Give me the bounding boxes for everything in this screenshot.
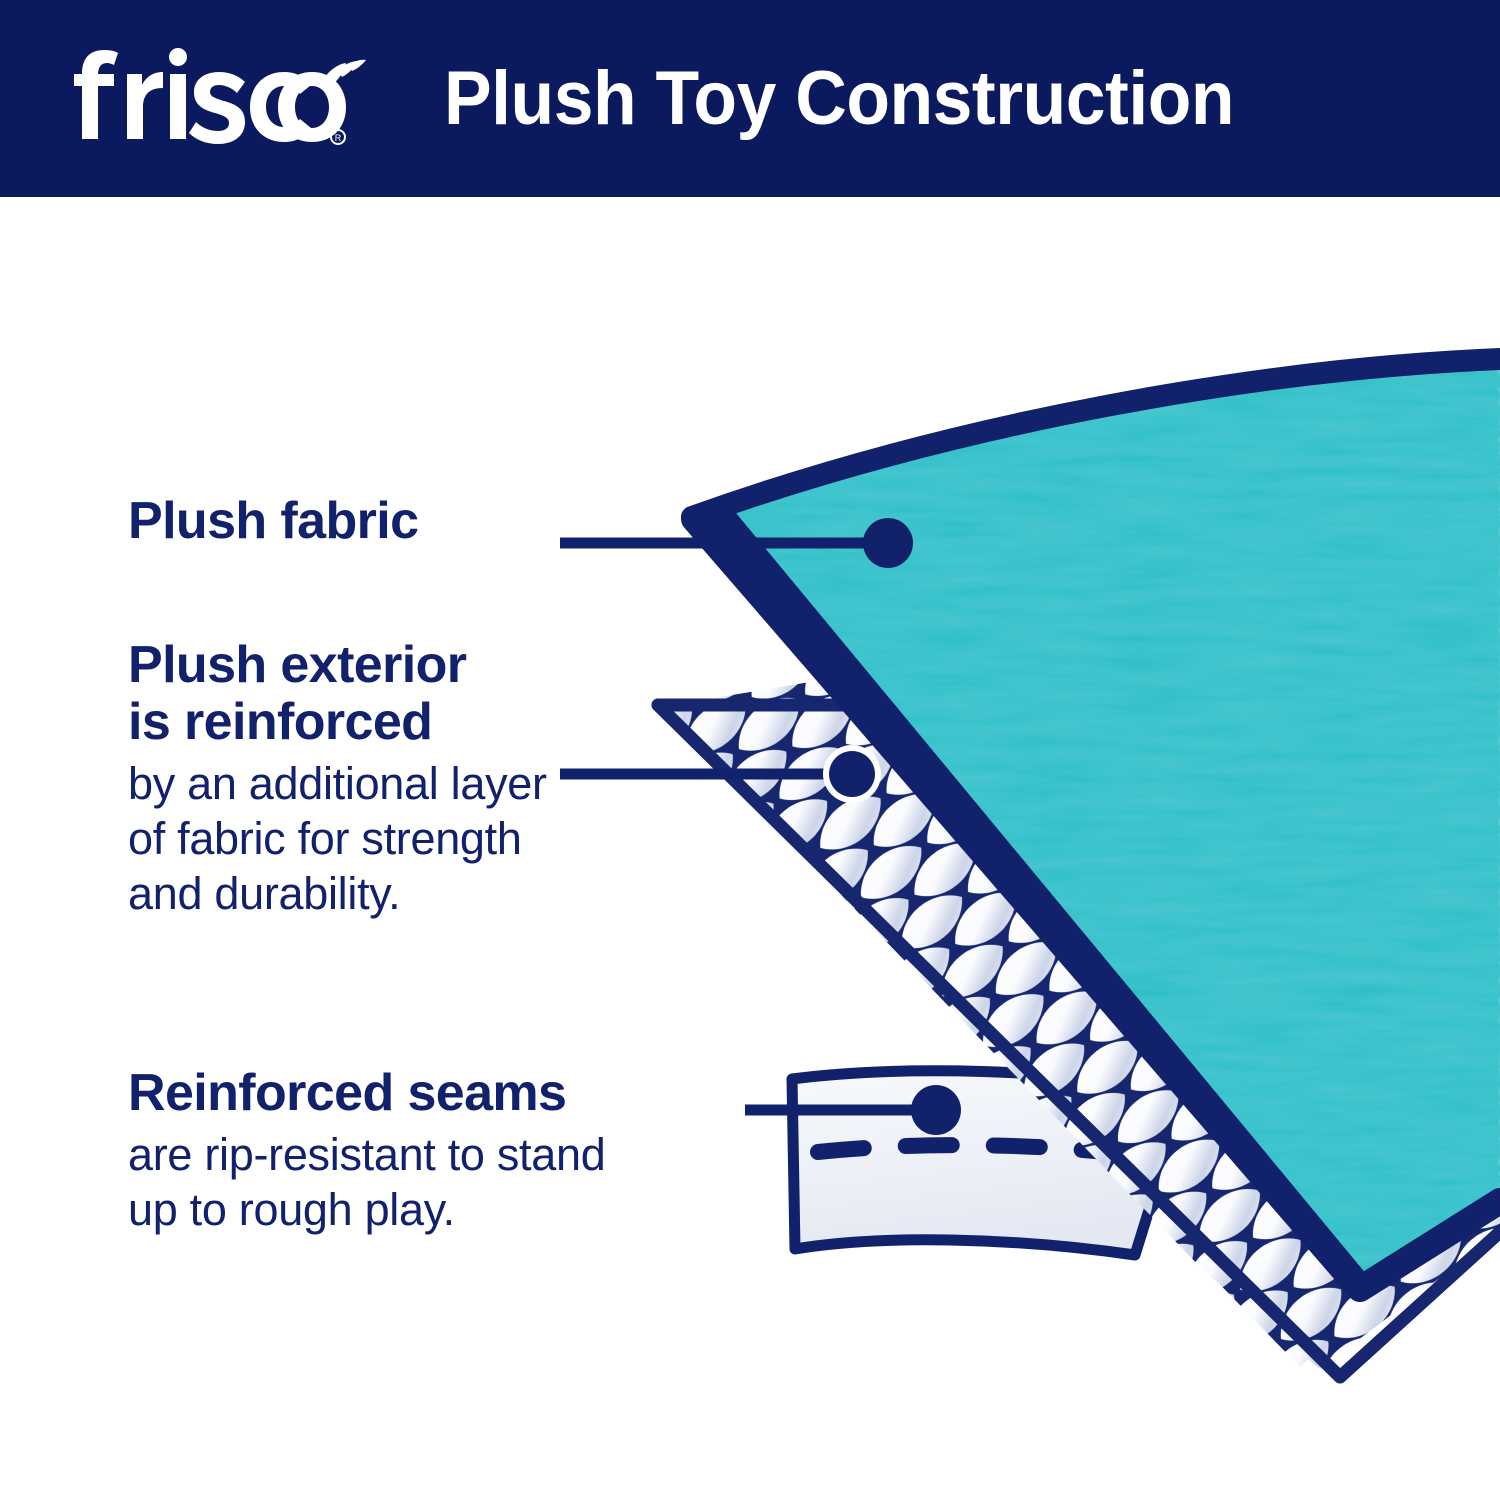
- callout-headline: Plush exterior is reinforced: [128, 637, 547, 751]
- header-bar: R Plush Toy Construction: [0, 0, 1500, 197]
- callout-body: are rip-resistant to stand up to rough p…: [128, 1128, 605, 1238]
- svg-text:R: R: [335, 133, 342, 143]
- registered-trademark-icon: R: [331, 130, 345, 144]
- callout-headline: Reinforced seams: [128, 1065, 605, 1122]
- callout-headline: Plush fabric: [128, 493, 418, 550]
- callout-reinforced-seams: Reinforced seams are rip-resistant to st…: [128, 1065, 605, 1238]
- callout-plush-exterior: Plush exterior is reinforced by an addit…: [128, 637, 547, 922]
- page-title: Plush Toy Construction: [444, 55, 1234, 142]
- frisco-wordmark-svg: R: [72, 44, 372, 154]
- frisco-logo: R: [72, 44, 372, 154]
- illustration-stage: Plush fabric Plush exterior is reinforce…: [0, 197, 1500, 1500]
- callout-plush-fabric: Plush fabric: [128, 493, 418, 550]
- callout-body: by an additional layer of fabric for str…: [128, 757, 547, 922]
